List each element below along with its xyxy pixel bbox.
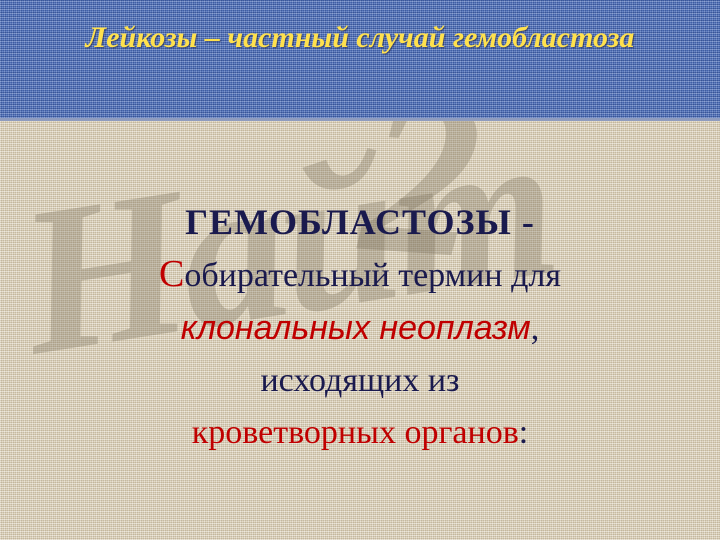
body-line-3-emphasis: клональных неоплазм (181, 309, 531, 347)
body-line-1: ГЕМОБЛАСТОЗЫ - (0, 196, 720, 248)
body-line-3: клональных неоплазм, (0, 302, 720, 355)
title-banner-underline (0, 118, 720, 121)
body-line-2-initial: С (159, 253, 184, 295)
body-line-3-comma: , (531, 310, 540, 347)
body-line-5: кроветворных органов: (0, 407, 720, 459)
body-line-2: Собирательный термин для (0, 248, 720, 302)
body-line-5-text: кроветворных органов (192, 414, 519, 451)
slide-title: Лейкозы – частный случай гемобластоза (0, 18, 720, 58)
body-line-2-rest: обирательный термин для (184, 257, 561, 294)
body-line-4: исходящих из (0, 355, 720, 407)
body-line-5-colon: : (519, 414, 528, 451)
slide-body: ГЕМОБЛАСТОЗЫ - Собирательный термин для … (0, 196, 720, 459)
slide: 2 Найт Лейкозы – частный случай гемоблас… (0, 0, 720, 540)
